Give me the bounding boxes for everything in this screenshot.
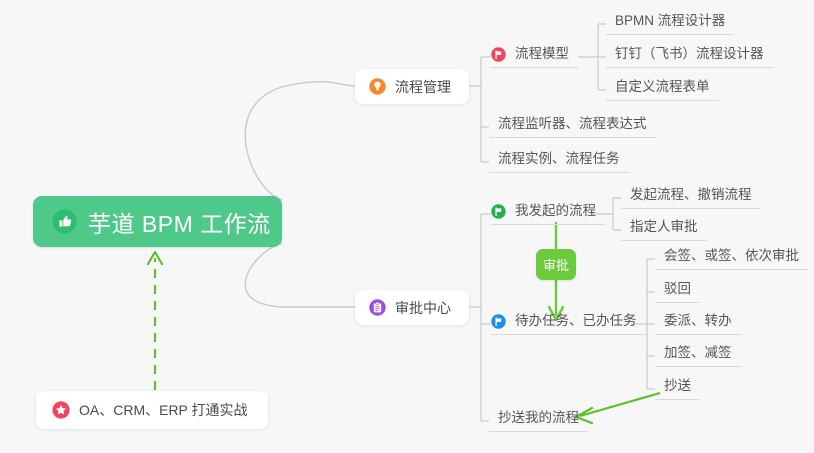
- node-label-process-model: 流程模型: [515, 46, 569, 62]
- node-label-my-started-processes: 我发起的流程: [515, 203, 596, 219]
- branch-label-process-mgmt: 流程管理: [395, 77, 451, 97]
- flag-icon-red: [491, 47, 506, 62]
- floating-label-oa-crm-erp: OA、CRM、ERP 打通实战: [79, 400, 248, 420]
- edge-root-to-approval-center: [245, 243, 355, 307]
- node-label-todo-done-tasks: 待办任务、已办任务: [515, 313, 637, 329]
- node-dingtalk-feishu-designer[interactable]: 钉钉（飞书）流程设计器: [606, 46, 773, 68]
- lightbulb-pin-icon: [369, 78, 386, 95]
- node-process-listener-expression[interactable]: 流程监听器、流程表达式: [489, 116, 656, 138]
- node-bpmn-designer[interactable]: BPMN 流程设计器: [606, 13, 734, 35]
- flag-icon-green: [491, 204, 506, 219]
- node-countersign-orsign-sequential[interactable]: 会签、或签、依次审批: [655, 248, 808, 270]
- clipboard-icon: [369, 299, 386, 316]
- flag-icon-blue: [491, 314, 506, 329]
- root-label: 芋道 BPM 工作流: [88, 205, 271, 239]
- annotation-dashed-arrow-head: [148, 252, 162, 264]
- branch-node-process-mgmt[interactable]: 流程管理: [355, 69, 469, 104]
- node-delegate-transfer[interactable]: 委派、转办: [655, 313, 741, 335]
- branch-label-approval-center: 审批中心: [395, 298, 451, 318]
- node-process-instance-task[interactable]: 流程实例、流程任务: [489, 151, 629, 173]
- root-node[interactable]: 芋道 BPM 工作流: [33, 196, 282, 247]
- thumbs-up-icon: [52, 209, 77, 234]
- annotation-pill-approve[interactable]: 审批: [536, 249, 576, 280]
- node-cc[interactable]: 抄送: [655, 378, 700, 400]
- annotation-cc-link-line: [580, 393, 660, 416]
- node-my-started-processes[interactable]: 我发起的流程: [491, 203, 605, 225]
- branch-node-approval-center[interactable]: 审批中心: [355, 290, 469, 325]
- mindmap-canvas: 芋道 BPM 工作流 流程管理 审批中心: [0, 0, 814, 453]
- star-icon: [52, 401, 70, 419]
- floating-node-oa-crm-erp[interactable]: OA、CRM、ERP 打通实战: [36, 391, 268, 429]
- node-process-model[interactable]: 流程模型: [491, 46, 578, 68]
- node-assignee-approval[interactable]: 指定人审批: [621, 219, 707, 241]
- node-reject[interactable]: 驳回: [655, 281, 700, 303]
- node-add-remove-sign[interactable]: 加签、减签: [655, 345, 741, 367]
- node-cc-to-me-processes[interactable]: 抄送我的流程: [489, 410, 588, 432]
- node-custom-process-form[interactable]: 自定义流程表单: [606, 79, 719, 101]
- edge-root-to-process-mgmt: [245, 82, 355, 200]
- node-todo-done-tasks[interactable]: 待办任务、已办任务: [491, 313, 646, 335]
- node-start-cancel-process[interactable]: 发起流程、撤销流程: [621, 187, 761, 209]
